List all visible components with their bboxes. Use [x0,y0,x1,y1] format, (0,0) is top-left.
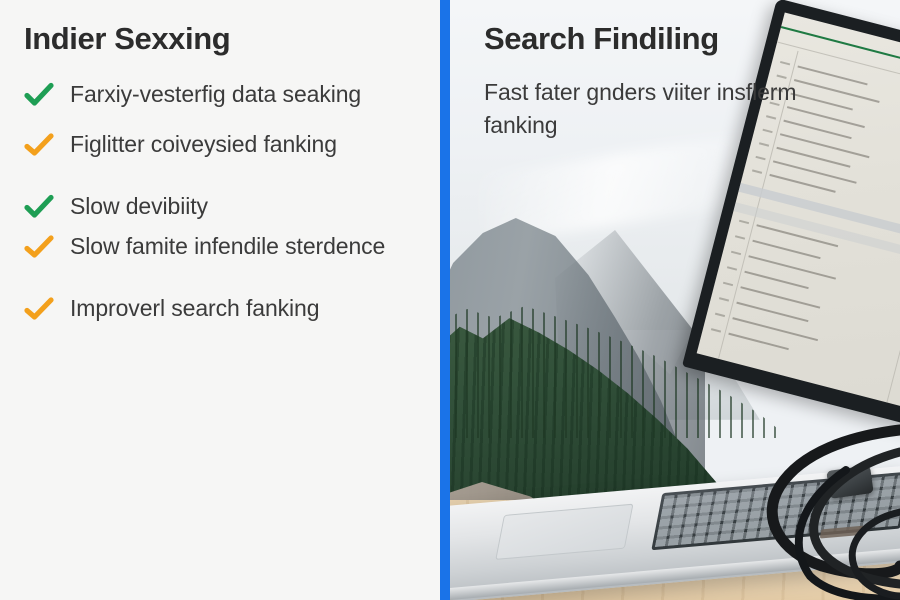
right-panel-body: Fast fater gnders viiter insflerm fankin… [484,76,846,141]
check-icon [24,230,70,264]
list-item-label: Slow devibiity [70,190,208,223]
right-panel: Search Findiling Fast fater gnders viite… [450,0,900,600]
laptop-trackpad [495,504,633,560]
list-item-label: Improverl search fanking [70,292,319,325]
check-icon [24,292,70,326]
right-text-block: Search Findiling Fast fater gnders viite… [484,22,868,141]
list-item: Farxiy-vesterfig data seaking [24,78,422,112]
screen-highlight-band [738,183,900,261]
list-item-label: Figlitter coiveysied fanking [70,128,337,161]
vertical-divider [440,0,450,600]
list-item: Figlitter coiveysied fanking [24,128,422,162]
check-icon [24,128,70,162]
left-panel: Indier Sexxing Farxiy-vesterfig data sea… [0,0,440,600]
list-item: Improverl search fanking [24,292,422,326]
list-item: Slow devibiity [24,190,422,224]
right-panel-title: Search Findiling [484,22,868,56]
check-icon [24,190,70,224]
left-panel-title: Indier Sexxing [24,22,422,56]
list-item-label: Slow famite infendile sterdence [70,230,385,263]
left-feature-list: Farxiy-vesterfig data seaking Figlitter … [24,78,422,326]
check-icon [24,78,70,112]
comparison-layout: Indier Sexxing Farxiy-vesterfig data sea… [0,0,900,600]
list-item: Slow famite infendile sterdence [24,230,422,264]
list-item-label: Farxiy-vesterfig data seaking [70,78,361,111]
